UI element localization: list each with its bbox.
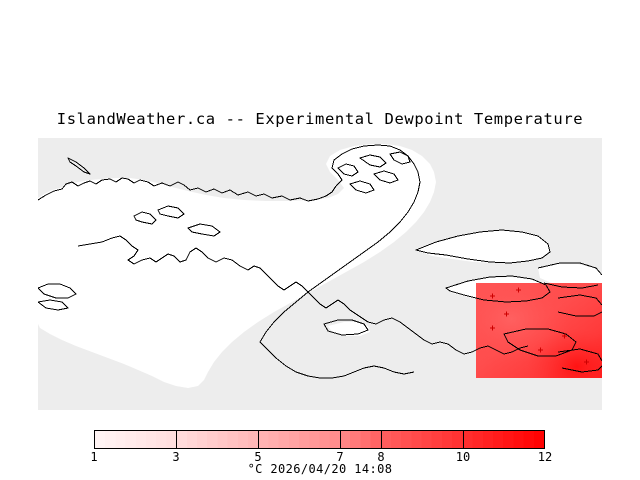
colorbar-tick-5 <box>258 431 259 448</box>
page-title: IslandWeather.ca -- Experimental Dewpoin… <box>0 110 640 128</box>
colorbar-tick-8 <box>381 431 382 448</box>
colorbar-tick-7 <box>340 431 341 448</box>
colorbar-tick-10 <box>463 431 464 448</box>
colorbar-gradient <box>95 431 544 448</box>
colorbar-caption: °C 2026/04/20 14:08 <box>0 462 640 476</box>
map-panel[interactable] <box>38 138 602 410</box>
colorbar-tick-3 <box>176 431 177 448</box>
coastline-map[interactable] <box>38 138 602 410</box>
screenshot-root: IslandWeather.ca -- Experimental Dewpoin… <box>0 0 640 480</box>
colorbar[interactable] <box>94 430 545 449</box>
